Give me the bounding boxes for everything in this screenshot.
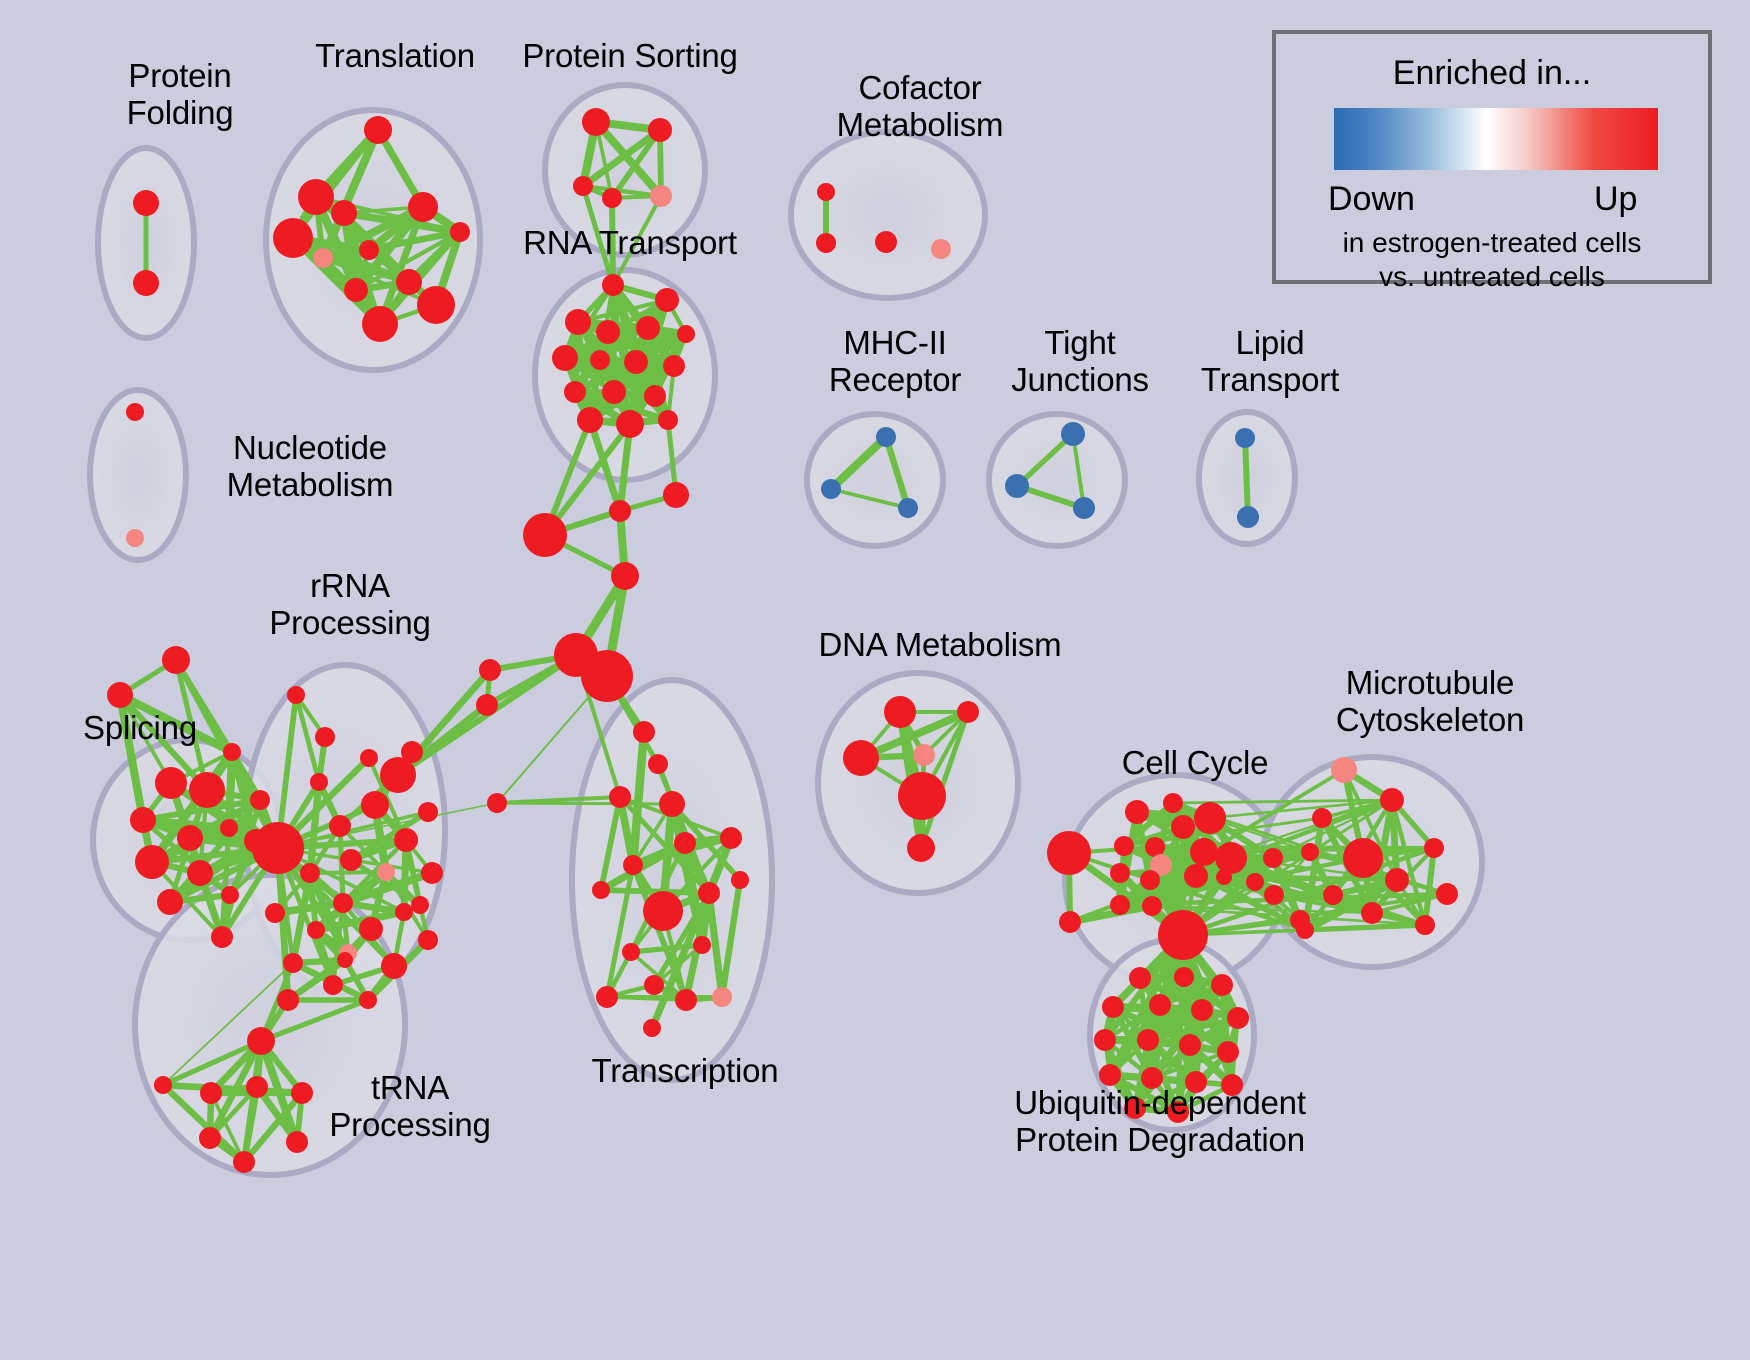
network-node[interactable] [1158, 910, 1208, 960]
network-node[interactable] [323, 975, 343, 995]
network-node[interactable] [298, 179, 334, 215]
network-node[interactable] [479, 659, 501, 681]
network-node[interactable] [1312, 808, 1332, 828]
network-node[interactable] [596, 320, 620, 344]
network-edge [310, 872, 386, 873]
network-node[interactable] [377, 863, 395, 881]
network-node[interactable] [395, 903, 413, 921]
network-node[interactable] [1149, 994, 1171, 1016]
network-node[interactable] [658, 410, 678, 430]
network-node[interactable] [107, 682, 133, 708]
network-node[interactable] [135, 845, 169, 879]
legend-up-label: Up [1594, 180, 1637, 219]
network-node[interactable] [189, 772, 225, 808]
cluster-label-cell-cycle: Cell Cycle [1100, 745, 1290, 782]
cluster-label-protein-folding: Protein Folding [85, 58, 275, 132]
legend-color-bar [1334, 108, 1658, 170]
network-node[interactable] [1424, 838, 1444, 858]
network-node[interactable] [602, 188, 622, 208]
network-node[interactable] [247, 1027, 275, 1055]
network-node[interactable] [1263, 848, 1283, 868]
network-node[interactable] [340, 849, 362, 871]
network-node[interactable] [636, 316, 660, 340]
network-node[interactable] [450, 222, 470, 242]
network-node[interactable] [624, 350, 648, 374]
network-node[interactable] [1237, 506, 1259, 528]
network-node[interactable] [126, 529, 144, 547]
cluster-label-translation: Translation [290, 38, 500, 75]
network-node[interactable] [273, 218, 313, 258]
network-node[interactable] [177, 825, 203, 851]
network-node[interactable] [712, 987, 732, 1007]
network-node[interactable] [609, 500, 631, 522]
network-node[interactable] [1361, 902, 1383, 924]
network-node[interactable] [361, 791, 389, 819]
network-node[interactable] [133, 270, 159, 296]
network-node[interactable] [162, 646, 190, 674]
network-node[interactable] [1059, 911, 1081, 933]
network-node[interactable] [821, 479, 841, 499]
network-node[interactable] [360, 749, 378, 767]
network-node[interactable] [313, 248, 333, 268]
network-node[interactable] [633, 721, 655, 743]
network-node[interactable] [154, 1076, 172, 1094]
network-node[interactable] [233, 1151, 255, 1173]
network-node[interactable] [611, 562, 639, 590]
network-node[interactable] [720, 827, 742, 849]
network-node[interactable] [1005, 474, 1029, 498]
network-node[interactable] [487, 793, 507, 813]
network-figure: Protein FoldingTranslationProtein Sortin… [0, 0, 1750, 1360]
network-node[interactable] [898, 772, 946, 820]
network-node[interactable] [577, 407, 603, 433]
network-node[interactable] [396, 269, 422, 295]
network-node[interactable] [211, 926, 233, 948]
cluster-label-protein-sorting: Protein Sorting [500, 38, 760, 75]
network-node[interactable] [246, 1076, 268, 1098]
network-node[interactable] [602, 274, 624, 296]
network-node[interactable] [1110, 895, 1130, 915]
network-node[interactable] [1296, 921, 1314, 939]
network-node[interactable] [876, 427, 896, 447]
network-node[interactable] [1047, 831, 1091, 875]
network-node[interactable] [650, 185, 672, 207]
network-node[interactable] [359, 991, 377, 1009]
network-node[interactable] [1215, 842, 1247, 874]
network-node[interactable] [307, 921, 325, 939]
network-node[interactable] [1102, 996, 1124, 1018]
network-node[interactable] [344, 278, 368, 302]
network-node[interactable] [133, 190, 159, 216]
network-node[interactable] [1114, 836, 1134, 856]
network-node[interactable] [523, 513, 567, 557]
network-node[interactable] [417, 286, 455, 324]
network-node[interactable] [329, 815, 351, 837]
network-node[interactable] [1163, 793, 1183, 813]
legend-title: Enriched in... [1276, 54, 1708, 93]
network-edge [601, 890, 709, 893]
network-node[interactable] [1174, 967, 1194, 987]
network-node[interactable] [362, 306, 398, 342]
network-node[interactable] [421, 862, 443, 884]
network-node[interactable] [408, 192, 438, 222]
network-node[interactable] [394, 828, 418, 852]
network-node[interactable] [659, 791, 685, 817]
network-node[interactable] [1385, 868, 1409, 892]
network-node[interactable] [200, 1082, 222, 1104]
network-node[interactable] [581, 650, 633, 702]
network-node[interactable] [157, 889, 183, 915]
network-node[interactable] [1235, 428, 1255, 448]
network-node[interactable] [1145, 837, 1165, 857]
network-node[interactable] [655, 288, 679, 312]
legend-box: Enriched in... Down Up in estrogen-treat… [1272, 30, 1712, 284]
network-node[interactable] [1216, 869, 1232, 885]
network-node[interactable] [643, 1019, 661, 1037]
network-node[interactable] [582, 108, 610, 136]
network-node[interactable] [126, 403, 144, 421]
network-node[interactable] [1061, 422, 1085, 446]
network-node[interactable] [1125, 800, 1149, 824]
cluster-label-lipid-transport: Lipid Transport [1175, 325, 1365, 399]
network-node[interactable] [644, 385, 666, 407]
network-node[interactable] [843, 740, 879, 776]
network-node[interactable] [300, 863, 320, 883]
network-node[interactable] [552, 345, 578, 371]
network-node[interactable] [731, 871, 749, 889]
network-node[interactable] [1343, 838, 1383, 878]
network-node[interactable] [590, 350, 610, 370]
network-node[interactable] [333, 893, 353, 913]
network-node[interactable] [359, 917, 383, 941]
network-node[interactable] [957, 701, 979, 723]
network-node[interactable] [287, 686, 305, 704]
cluster-label-rrna-processing: rRNA Processing [240, 568, 460, 642]
network-node[interactable] [337, 952, 353, 968]
network-node[interactable] [677, 325, 695, 343]
network-node[interactable] [265, 903, 285, 923]
cluster-label-nucleotide-metabolism: Nucleotide Metabolism [195, 430, 425, 504]
cluster-label-ubiquitin-degradation: Ubiquitin-dependent Protein Degradation [985, 1085, 1335, 1159]
network-node[interactable] [155, 767, 187, 799]
network-node[interactable] [1110, 863, 1130, 883]
cluster-label-splicing: Splicing [55, 710, 225, 747]
network-node[interactable] [884, 696, 916, 728]
network-node[interactable] [199, 1127, 221, 1149]
network-node[interactable] [1331, 757, 1357, 783]
network-node[interactable] [602, 380, 626, 404]
network-node[interactable] [252, 822, 304, 874]
network-node[interactable] [411, 896, 429, 914]
network-edge [497, 803, 672, 804]
cluster-label-mhc-ii-receptor: MHC-II Receptor [800, 325, 990, 399]
network-node[interactable] [693, 936, 711, 954]
network-node[interactable] [359, 240, 379, 260]
network-node[interactable] [1129, 967, 1151, 989]
network-node[interactable] [380, 757, 416, 793]
network-node[interactable] [1191, 999, 1213, 1021]
network-node[interactable] [643, 891, 683, 931]
cluster-label-microtubule-cytoskeleton: Microtubule Cytoskeleton [1300, 665, 1560, 739]
network-node[interactable] [1217, 1041, 1239, 1063]
network-node[interactable] [644, 975, 664, 995]
network-node[interactable] [675, 989, 697, 1011]
cluster-label-dna-metabolism: DNA Metabolism [805, 627, 1075, 664]
network-node[interactable] [623, 855, 643, 875]
network-node[interactable] [221, 886, 239, 904]
network-node[interactable] [220, 819, 238, 837]
cluster-label-tight-junctions: Tight Junctions [985, 325, 1175, 399]
network-node[interactable] [418, 802, 438, 822]
network-node[interactable] [1073, 497, 1095, 519]
network-node[interactable] [648, 754, 668, 774]
legend-down-label: Down [1328, 180, 1415, 219]
network-node[interactable] [816, 233, 836, 253]
network-node[interactable] [381, 953, 407, 979]
network-node[interactable] [898, 498, 918, 518]
network-node[interactable] [1094, 1029, 1116, 1051]
network-node[interactable] [1323, 885, 1343, 905]
network-node[interactable] [476, 694, 498, 716]
network-node[interactable] [609, 786, 631, 808]
network-node[interactable] [1099, 1064, 1121, 1086]
network-node[interactable] [331, 200, 357, 226]
network-node[interactable] [310, 773, 328, 791]
network-node[interactable] [1301, 843, 1319, 861]
network-node[interactable] [250, 790, 270, 810]
network-node[interactable] [1246, 873, 1264, 891]
cluster-label-transcription: Transcription [560, 1053, 810, 1090]
legend-caption: in estrogen-treated cells vs. untreated … [1276, 226, 1708, 294]
network-node[interactable] [315, 727, 335, 747]
network-node[interactable] [418, 930, 438, 950]
network-node[interactable] [187, 860, 213, 886]
network-node[interactable] [223, 743, 241, 761]
cluster-label-rna-transport: RNA Transport [500, 225, 760, 262]
network-node[interactable] [1227, 1007, 1249, 1029]
network-node[interactable] [875, 231, 897, 253]
network-node[interactable] [364, 116, 392, 144]
network-node[interactable] [573, 176, 593, 196]
network-node[interactable] [1415, 915, 1435, 935]
network-node[interactable] [913, 744, 935, 766]
network-node[interactable] [648, 118, 672, 142]
network-edge [1245, 438, 1248, 517]
cluster-label-trna-processing: tRNA Processing [310, 1070, 510, 1144]
network-node[interactable] [1264, 885, 1284, 905]
cluster-ellipse-cofactor-metabolism [791, 132, 985, 298]
network-node[interactable] [283, 953, 303, 973]
network-node[interactable] [1211, 974, 1233, 996]
network-node[interactable] [1380, 788, 1404, 812]
network-node[interactable] [674, 832, 696, 854]
network-node[interactable] [565, 309, 591, 335]
network-node[interactable] [616, 410, 644, 438]
network-node[interactable] [592, 881, 610, 899]
network-node[interactable] [907, 834, 935, 862]
network-node[interactable] [286, 1131, 308, 1153]
network-node[interactable] [1184, 864, 1208, 888]
network-node[interactable] [698, 882, 720, 904]
network-node[interactable] [1171, 815, 1195, 839]
network-node[interactable] [1190, 838, 1218, 866]
network-node[interactable] [596, 986, 618, 1008]
cluster-label-cofactor-metabolism: Cofactor Metabolism [800, 70, 1040, 144]
network-node[interactable] [1436, 883, 1458, 905]
network-node[interactable] [1179, 1034, 1201, 1056]
network-node[interactable] [277, 989, 299, 1011]
network-node[interactable] [622, 943, 640, 961]
network-node[interactable] [1140, 870, 1160, 890]
network-node[interactable] [663, 355, 685, 377]
network-node[interactable] [130, 807, 156, 833]
network-node[interactable] [663, 482, 689, 508]
network-node[interactable] [931, 239, 951, 259]
network-node[interactable] [1194, 802, 1226, 834]
network-node[interactable] [1142, 896, 1162, 916]
network-node[interactable] [817, 183, 835, 201]
network-node[interactable] [564, 381, 586, 403]
network-node[interactable] [1137, 1029, 1159, 1051]
